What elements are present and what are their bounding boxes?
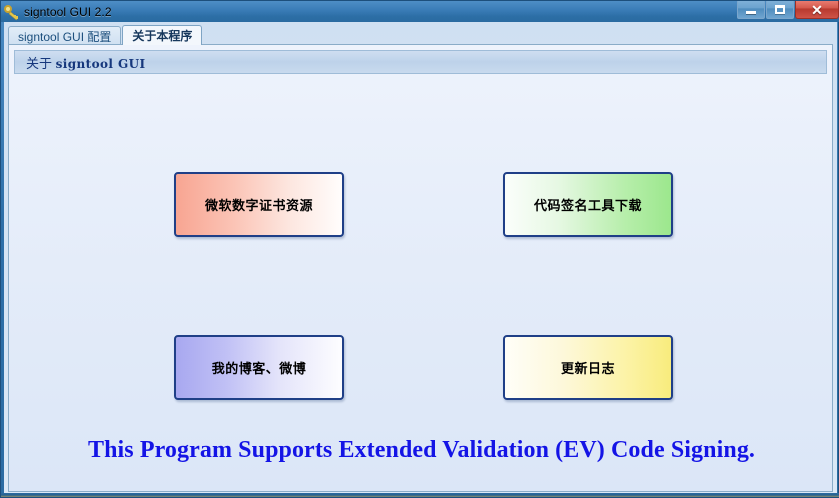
button-label: 更新日志 bbox=[561, 358, 615, 377]
tab-strip: signtool GUI 配置 关于本程序 bbox=[8, 25, 833, 45]
tab-label: signtool GUI 配置 bbox=[18, 28, 111, 45]
signtool-download-button[interactable]: 代码签名工具下载 bbox=[503, 172, 673, 237]
button-label: 代码签名工具下载 bbox=[534, 195, 642, 214]
minimize-button[interactable] bbox=[737, 1, 765, 19]
title-bar[interactable]: signtool GUI 2.2 ✕ bbox=[1, 1, 839, 22]
client-area: signtool GUI 配置 关于本程序 关于 signtool GUI 微软… bbox=[4, 22, 837, 495]
button-label: 微软数字证书资源 bbox=[205, 195, 313, 214]
tab-label: 关于本程序 bbox=[132, 27, 192, 44]
my-blog-weibo-button[interactable]: 我的博客、微博 bbox=[174, 335, 344, 400]
maximize-icon bbox=[775, 5, 785, 14]
ms-cert-resources-button[interactable]: 微软数字证书资源 bbox=[174, 172, 344, 237]
minimize-icon bbox=[746, 11, 756, 14]
tab-signtool-gui-config[interactable]: signtool GUI 配置 bbox=[8, 26, 121, 45]
button-label: 我的博客、微博 bbox=[212, 358, 307, 377]
ev-code-signing-tagline: This Program Supports Extended Validatio… bbox=[9, 437, 833, 464]
window-bottom-edge bbox=[1, 493, 839, 497]
key-icon bbox=[4, 4, 20, 20]
about-header-product: signtool GUI bbox=[56, 57, 146, 71]
window-controls: ✕ bbox=[737, 1, 839, 20]
application-window: signtool GUI 2.2 ✕ signtool GUI 配置 关于本程序 bbox=[0, 0, 839, 498]
key-icon-ring bbox=[4, 5, 12, 13]
key-icon-tooth-2 bbox=[16, 16, 18, 19]
maximize-button[interactable] bbox=[766, 1, 794, 19]
close-button[interactable]: ✕ bbox=[795, 1, 839, 19]
about-header-label: 关于 signtool GUI bbox=[26, 53, 145, 72]
about-tab-page: 关于 signtool GUI 微软数字证书资源 代码签名工具下载 我的博客、微… bbox=[8, 44, 833, 492]
about-header-band: 关于 signtool GUI bbox=[14, 50, 827, 74]
about-header-prefix: 关于 bbox=[26, 56, 52, 71]
changelog-button[interactable]: 更新日志 bbox=[503, 335, 673, 400]
window-title: signtool GUI 2.2 bbox=[24, 5, 112, 19]
tab-about-program[interactable]: 关于本程序 bbox=[122, 25, 202, 45]
close-icon: ✕ bbox=[811, 3, 823, 17]
